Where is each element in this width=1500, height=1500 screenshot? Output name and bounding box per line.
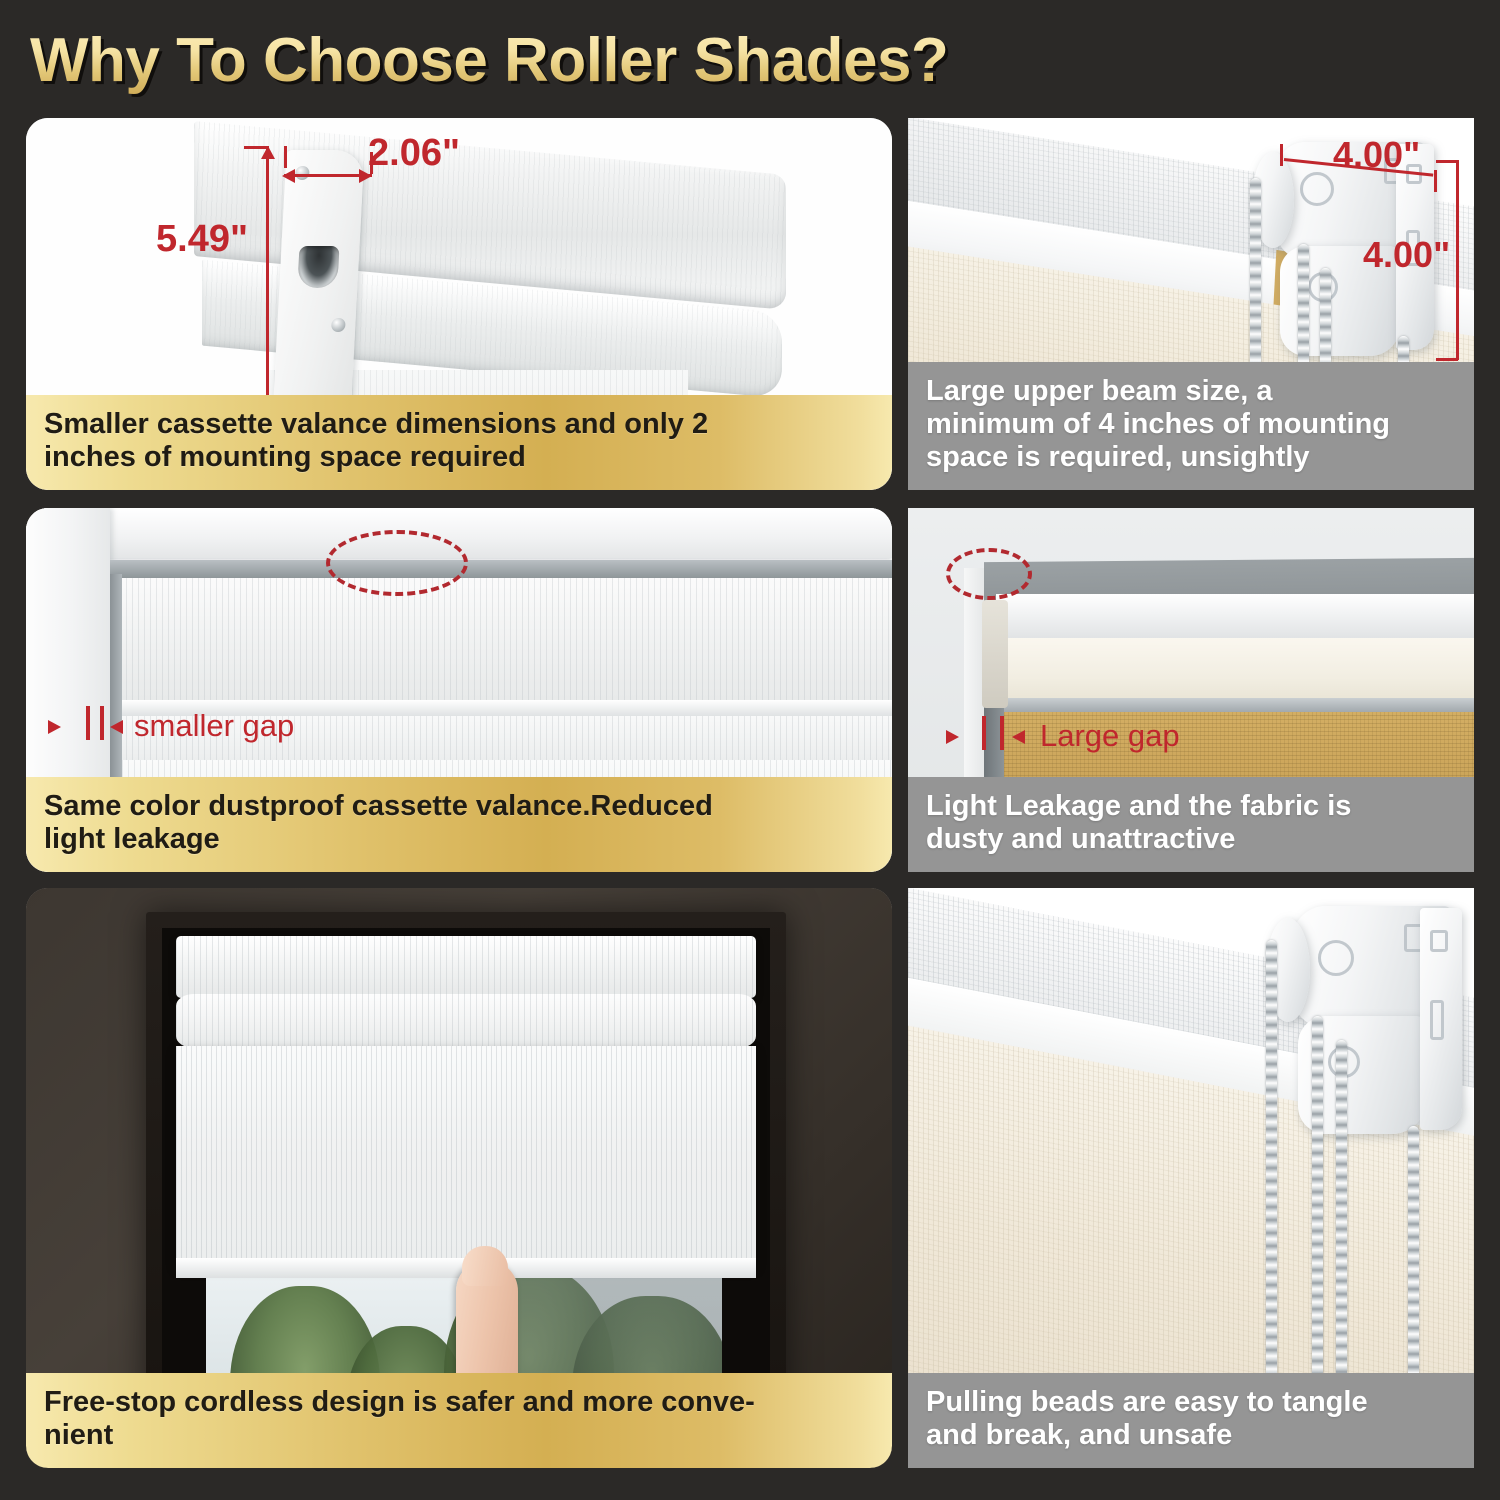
caption-good-cordless-design: Free-stop cordless design is safer and m…	[26, 1373, 892, 1468]
gap-arrow-right-icon	[946, 730, 959, 744]
dimension-arrow-left-icon	[282, 169, 295, 183]
caption-bad-light-leakage: Light Leakage and the fabric is dusty an…	[908, 777, 1474, 872]
screw-icon	[295, 166, 310, 180]
gap-tick	[86, 706, 90, 740]
shade-roller-tube	[176, 994, 756, 1048]
panel-good-dustproof-valance: smaller gap Same color dustproof cassett…	[26, 508, 892, 872]
panel-good-cassette-dimensions: 2.06" 5.49" Smaller cassette valance dim…	[26, 118, 892, 490]
gap-tick	[1000, 716, 1004, 750]
gap-arrow-left-icon	[110, 720, 123, 734]
panel-bad-light-leakage: Large gap Light Leakage and the fabric i…	[908, 508, 1474, 872]
dimension-label-beam-height: 4.00"	[1363, 234, 1450, 276]
dimension-line-vertical	[1456, 160, 1459, 360]
highlight-ellipse-icon	[946, 548, 1032, 600]
dimension-tick	[284, 146, 287, 168]
bracket-mounting-plate	[1420, 908, 1462, 1130]
cord-slot-icon	[297, 246, 339, 288]
dimension-label-height: 5.49"	[156, 218, 248, 261]
competitor-metal-rail	[996, 698, 1474, 712]
highlight-ellipse-icon	[326, 530, 468, 596]
gap-arrow-right-icon	[48, 720, 61, 734]
gap-arrow-left-icon	[1012, 730, 1025, 744]
dimension-arrow-up-icon	[261, 146, 275, 159]
dimension-tick	[1436, 358, 1458, 361]
caption-bad-large-upper-beam: Large upper beam size, a minimum of 4 in…	[908, 362, 1474, 490]
cassette-valance-edge	[110, 560, 892, 578]
gap-tick	[982, 716, 986, 750]
exposed-bracket-parts	[982, 600, 1008, 708]
dimension-tick	[1436, 160, 1458, 163]
caption-bad-pulling-beads: Pulling beads are easy to tangle and bre…	[908, 1373, 1474, 1468]
panel-good-cordless-design: Free-stop cordless design is safer and m…	[26, 888, 892, 1468]
caption-good-cassette-dimensions: Smaller cassette valance dimensions and …	[26, 395, 892, 490]
dimension-label-beam-width: 4.00"	[1333, 134, 1420, 176]
dimension-tick	[1434, 170, 1437, 192]
caption-good-dustproof-valance: Same color dustproof cassette valance.Re…	[26, 777, 892, 872]
dimension-tick	[1280, 144, 1283, 166]
panel-bad-pulling-beads: Pulling beads are easy to tangle and bre…	[908, 888, 1474, 1468]
gap-tick	[100, 706, 104, 740]
cassette-valance-head	[176, 936, 756, 998]
shade-fabric-band-upper	[114, 578, 892, 700]
page-title: Why To Choose Roller Shades?	[30, 18, 1130, 104]
competitor-valance	[996, 638, 1474, 704]
screw-icon	[331, 318, 346, 332]
shade-fabric-panel	[176, 1046, 756, 1266]
gap-label-smaller: smaller gap	[134, 708, 294, 744]
gap-label-large: Large gap	[1040, 718, 1180, 754]
dimension-label-width: 2.06"	[368, 132, 460, 175]
panel-bad-large-upper-beam: 4.00" 4.00" Large upper beam size, a min…	[908, 118, 1474, 490]
